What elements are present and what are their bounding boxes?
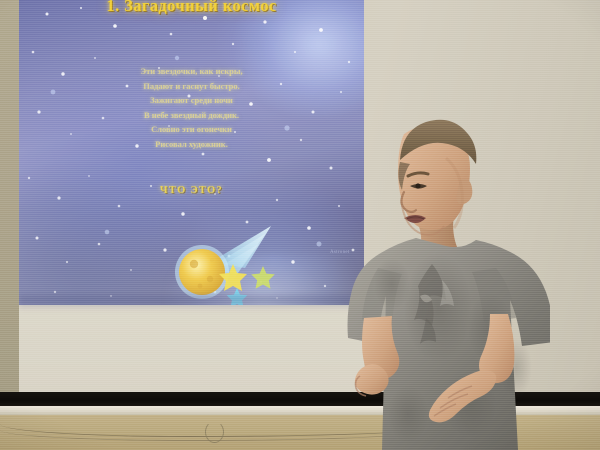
cord-loop: [205, 421, 224, 443]
poem-line: В небе звездный дождик.: [19, 108, 364, 123]
poem-line: Падают и гаснут быстро.: [19, 79, 364, 94]
slide-title: 1. Загадочный космос: [19, 0, 364, 16]
poem-line: Эти звездочки, как искры,: [19, 64, 364, 79]
wall-left-strip: [0, 0, 19, 392]
poem-line: Словно эти огонечки: [19, 122, 364, 137]
presenter: [320, 118, 550, 450]
slide-question: ЧТО ЭТО?: [19, 185, 364, 196]
comet-with-stars-icon: [167, 224, 287, 305]
slide-poem: Эти звездочки, как искры, Падают и гасну…: [19, 64, 364, 152]
photo-scene: Astronet 1. Загадочный космос Эти звездо…: [0, 0, 600, 450]
poem-line: Зажигают среди ночи: [19, 93, 364, 108]
projected-slide: Astronet: [19, 0, 364, 305]
projection-edge-shadow: [19, 296, 364, 310]
poem-line: Рисовал художник.: [19, 137, 364, 152]
